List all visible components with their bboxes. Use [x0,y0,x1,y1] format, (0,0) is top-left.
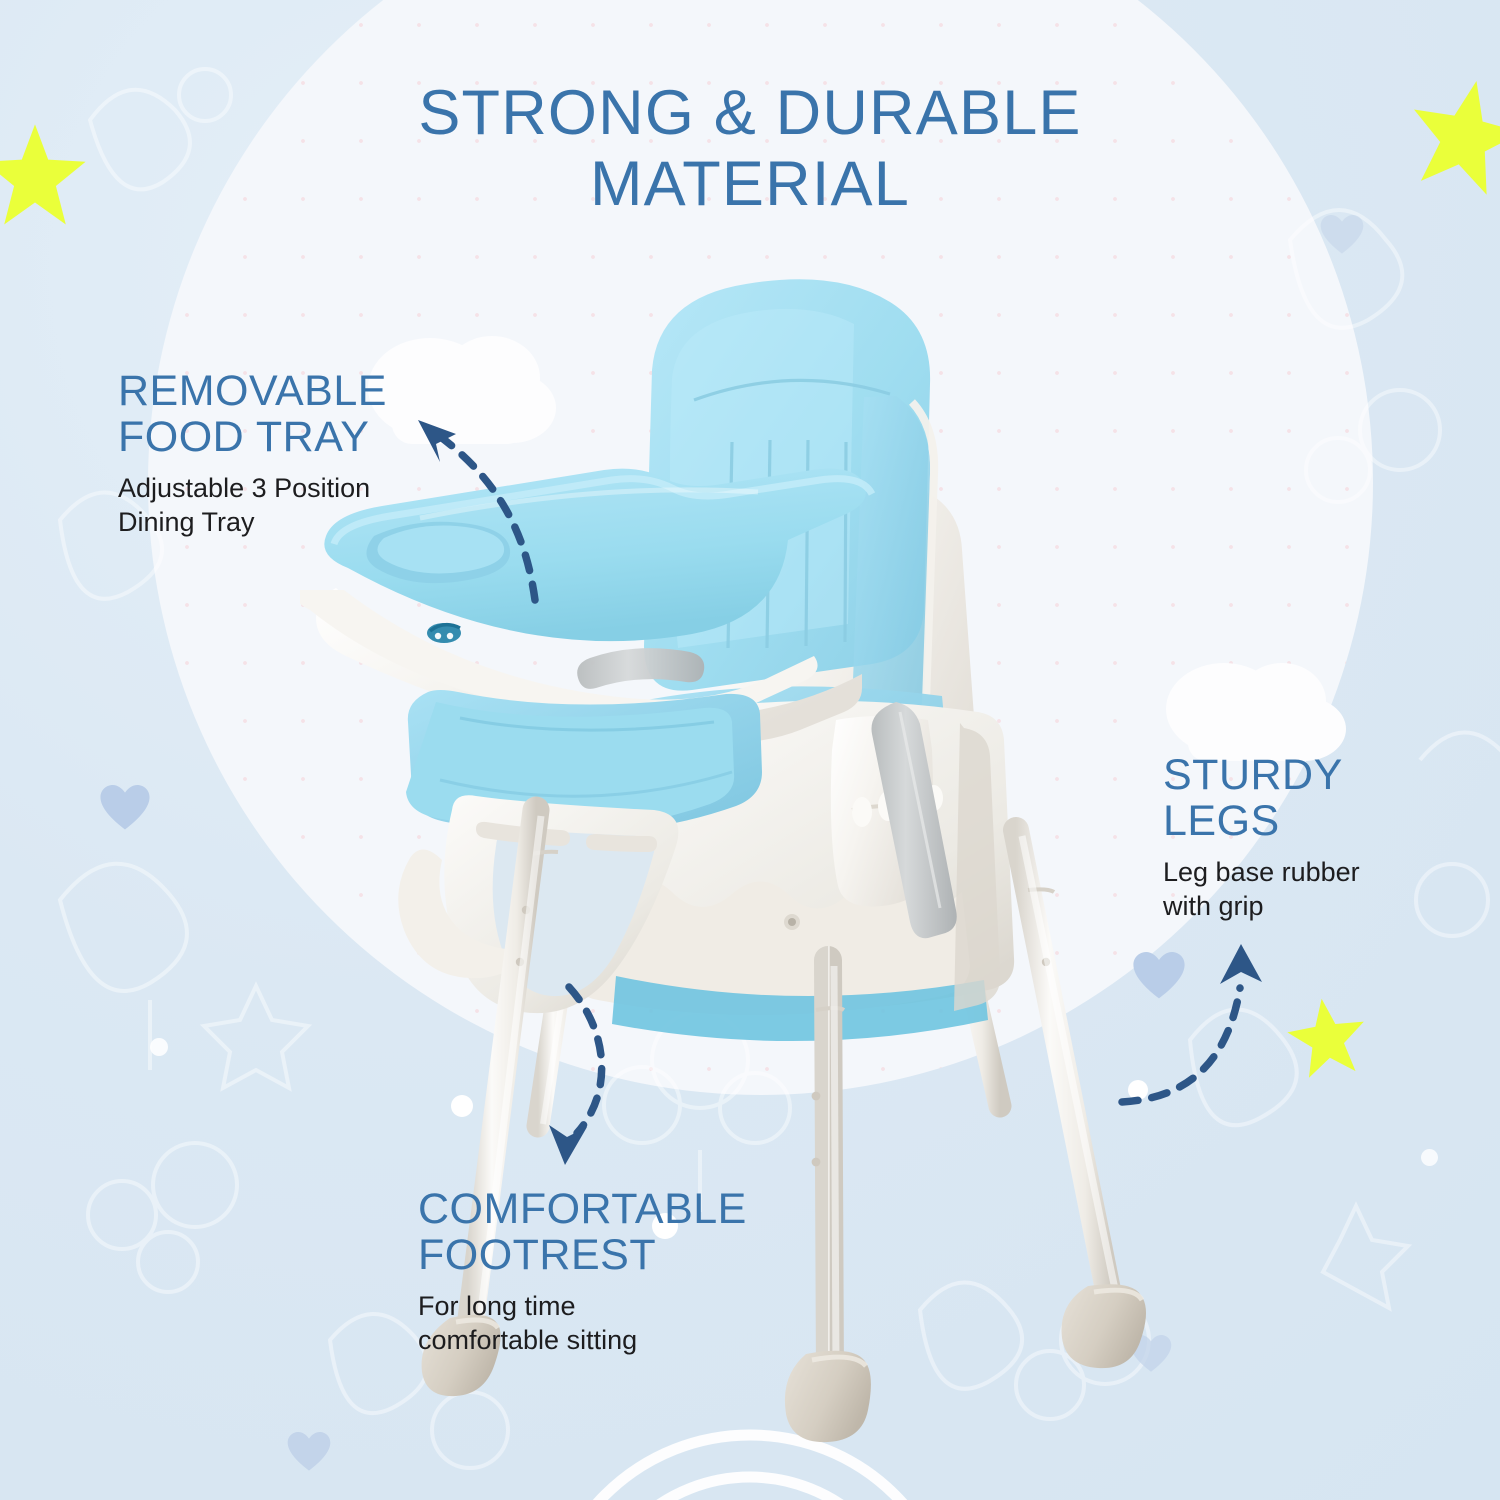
callout-heading: COMFORTABLE FOOTREST [418,1186,818,1279]
callout-subtext: Adjustable 3 Position Dining Tray [118,471,448,540]
heart-icon [100,785,150,831]
callout-heading: STURDY LEGS [1163,752,1463,845]
callout-sturdy-legs: STURDY LEGS Leg base rubber with grip [1163,752,1463,924]
dot-decoration [150,1038,168,1056]
callout-subtext: For long time comfortable sitting [418,1289,818,1358]
page-title: STRONG & DURABLE MATERIAL [0,78,1500,219]
callout-heading: REMOVABLE FOOD TRAY [118,368,448,461]
title-text: STRONG & DURABLE MATERIAL [0,78,1500,219]
leg-right [1016,830,1146,1368]
star-icon [1280,990,1375,1085]
callout-subtext: Leg base rubber with grip [1163,855,1463,924]
rubber-foot [1062,1284,1146,1368]
callout-comfortable-footrest: COMFORTABLE FOOTREST For long time comfo… [418,1186,818,1358]
dot-decoration [1421,1149,1438,1166]
brand-logo [427,623,461,643]
callout-removable-food-tray: REMOVABLE FOOD TRAY Adjustable 3 Positio… [118,368,448,540]
rubber-foot [785,1351,871,1442]
infographic-canvas: STRONG & DURABLE MATERIAL REMOVABLE FOOD… [0,0,1500,1500]
